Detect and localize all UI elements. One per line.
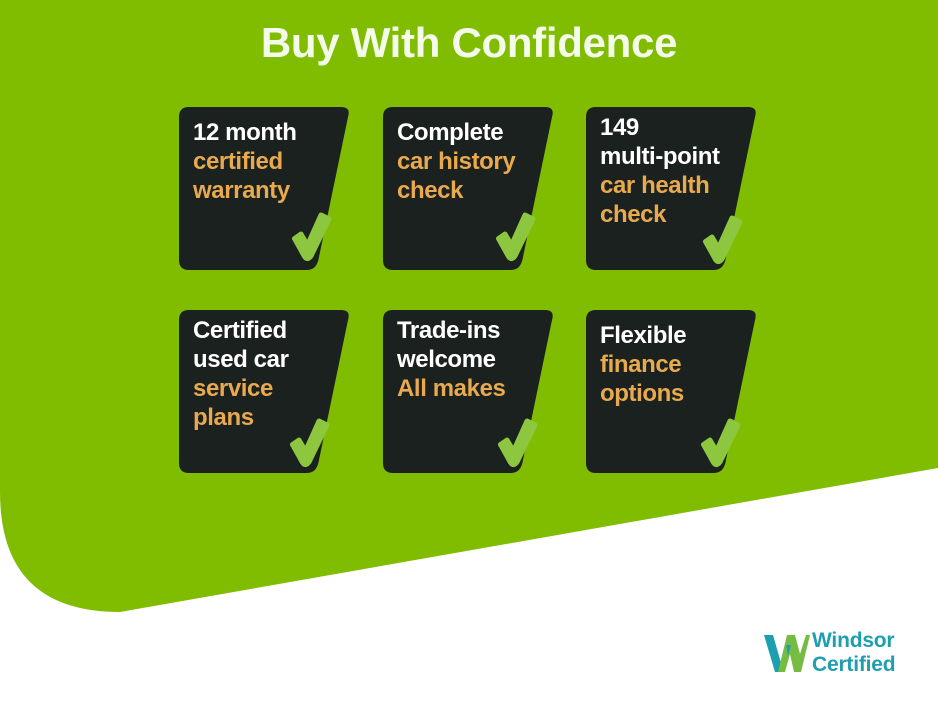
card-line: car history [397, 147, 547, 176]
check-tick-icon [289, 418, 331, 468]
card-line: options [600, 379, 750, 408]
logo-line-windsor: Windsor [812, 629, 928, 653]
card-line: check [397, 176, 547, 205]
card-line: Trade-ins [397, 316, 547, 345]
card-line: car health [600, 171, 750, 200]
logo-wordmark: Windsor Certified [812, 629, 928, 677]
card-line: service [193, 374, 343, 403]
card-text-block: Trade-ins welcome All makes [397, 316, 547, 403]
benefit-card-trade-ins-welcome-all-makes[interactable]: Trade-ins welcome All makes [383, 310, 555, 473]
card-line: certified [193, 147, 343, 176]
card-text-block: Complete car history check [397, 118, 547, 205]
card-line: All makes [397, 374, 547, 403]
poster-canvas: Buy With Confidence 12 month certified w… [0, 0, 938, 704]
check-tick-icon [700, 418, 742, 468]
check-tick-icon [497, 418, 539, 468]
benefit-card-certified-used-car-service-plans[interactable]: Certified used car service plans [179, 310, 351, 473]
card-line: warranty [193, 176, 343, 205]
check-tick-icon [495, 212, 537, 262]
card-line: 12 month [193, 118, 343, 147]
logo-line-certified: Certified [812, 653, 928, 677]
page-title: Buy With Confidence [0, 17, 938, 69]
card-line: multi-point [600, 142, 750, 171]
card-text-block: 12 month certified warranty [193, 118, 343, 205]
check-tick-icon [291, 212, 333, 262]
card-text-block: 149 multi-point car health check [600, 113, 750, 229]
card-line: used car [193, 345, 343, 374]
card-line: welcome [397, 345, 547, 374]
benefit-card-complete-car-history-check[interactable]: Complete car history check [383, 107, 555, 270]
benefit-card-flexible-finance-options[interactable]: Flexible finance options [586, 310, 758, 473]
check-tick-icon [702, 215, 744, 265]
benefit-card-12-month-certified-warranty[interactable]: 12 month certified warranty [179, 107, 351, 270]
card-line: Complete [397, 118, 547, 147]
benefits-card-grid: 12 month certified warranty Complete car… [179, 107, 759, 473]
card-line: finance [600, 350, 750, 379]
card-text-block: Certified used car service plans [193, 316, 343, 432]
windsor-w-icon [762, 632, 810, 674]
windsor-certified-logo[interactable]: Windsor Certified [762, 629, 926, 679]
card-line: Certified [193, 316, 343, 345]
card-text-block: Flexible finance options [600, 321, 750, 408]
card-line: Flexible [600, 321, 750, 350]
card-line: 149 [600, 113, 750, 142]
benefit-card-149-multi-point-car-health-check[interactable]: 149 multi-point car health check [586, 107, 758, 270]
